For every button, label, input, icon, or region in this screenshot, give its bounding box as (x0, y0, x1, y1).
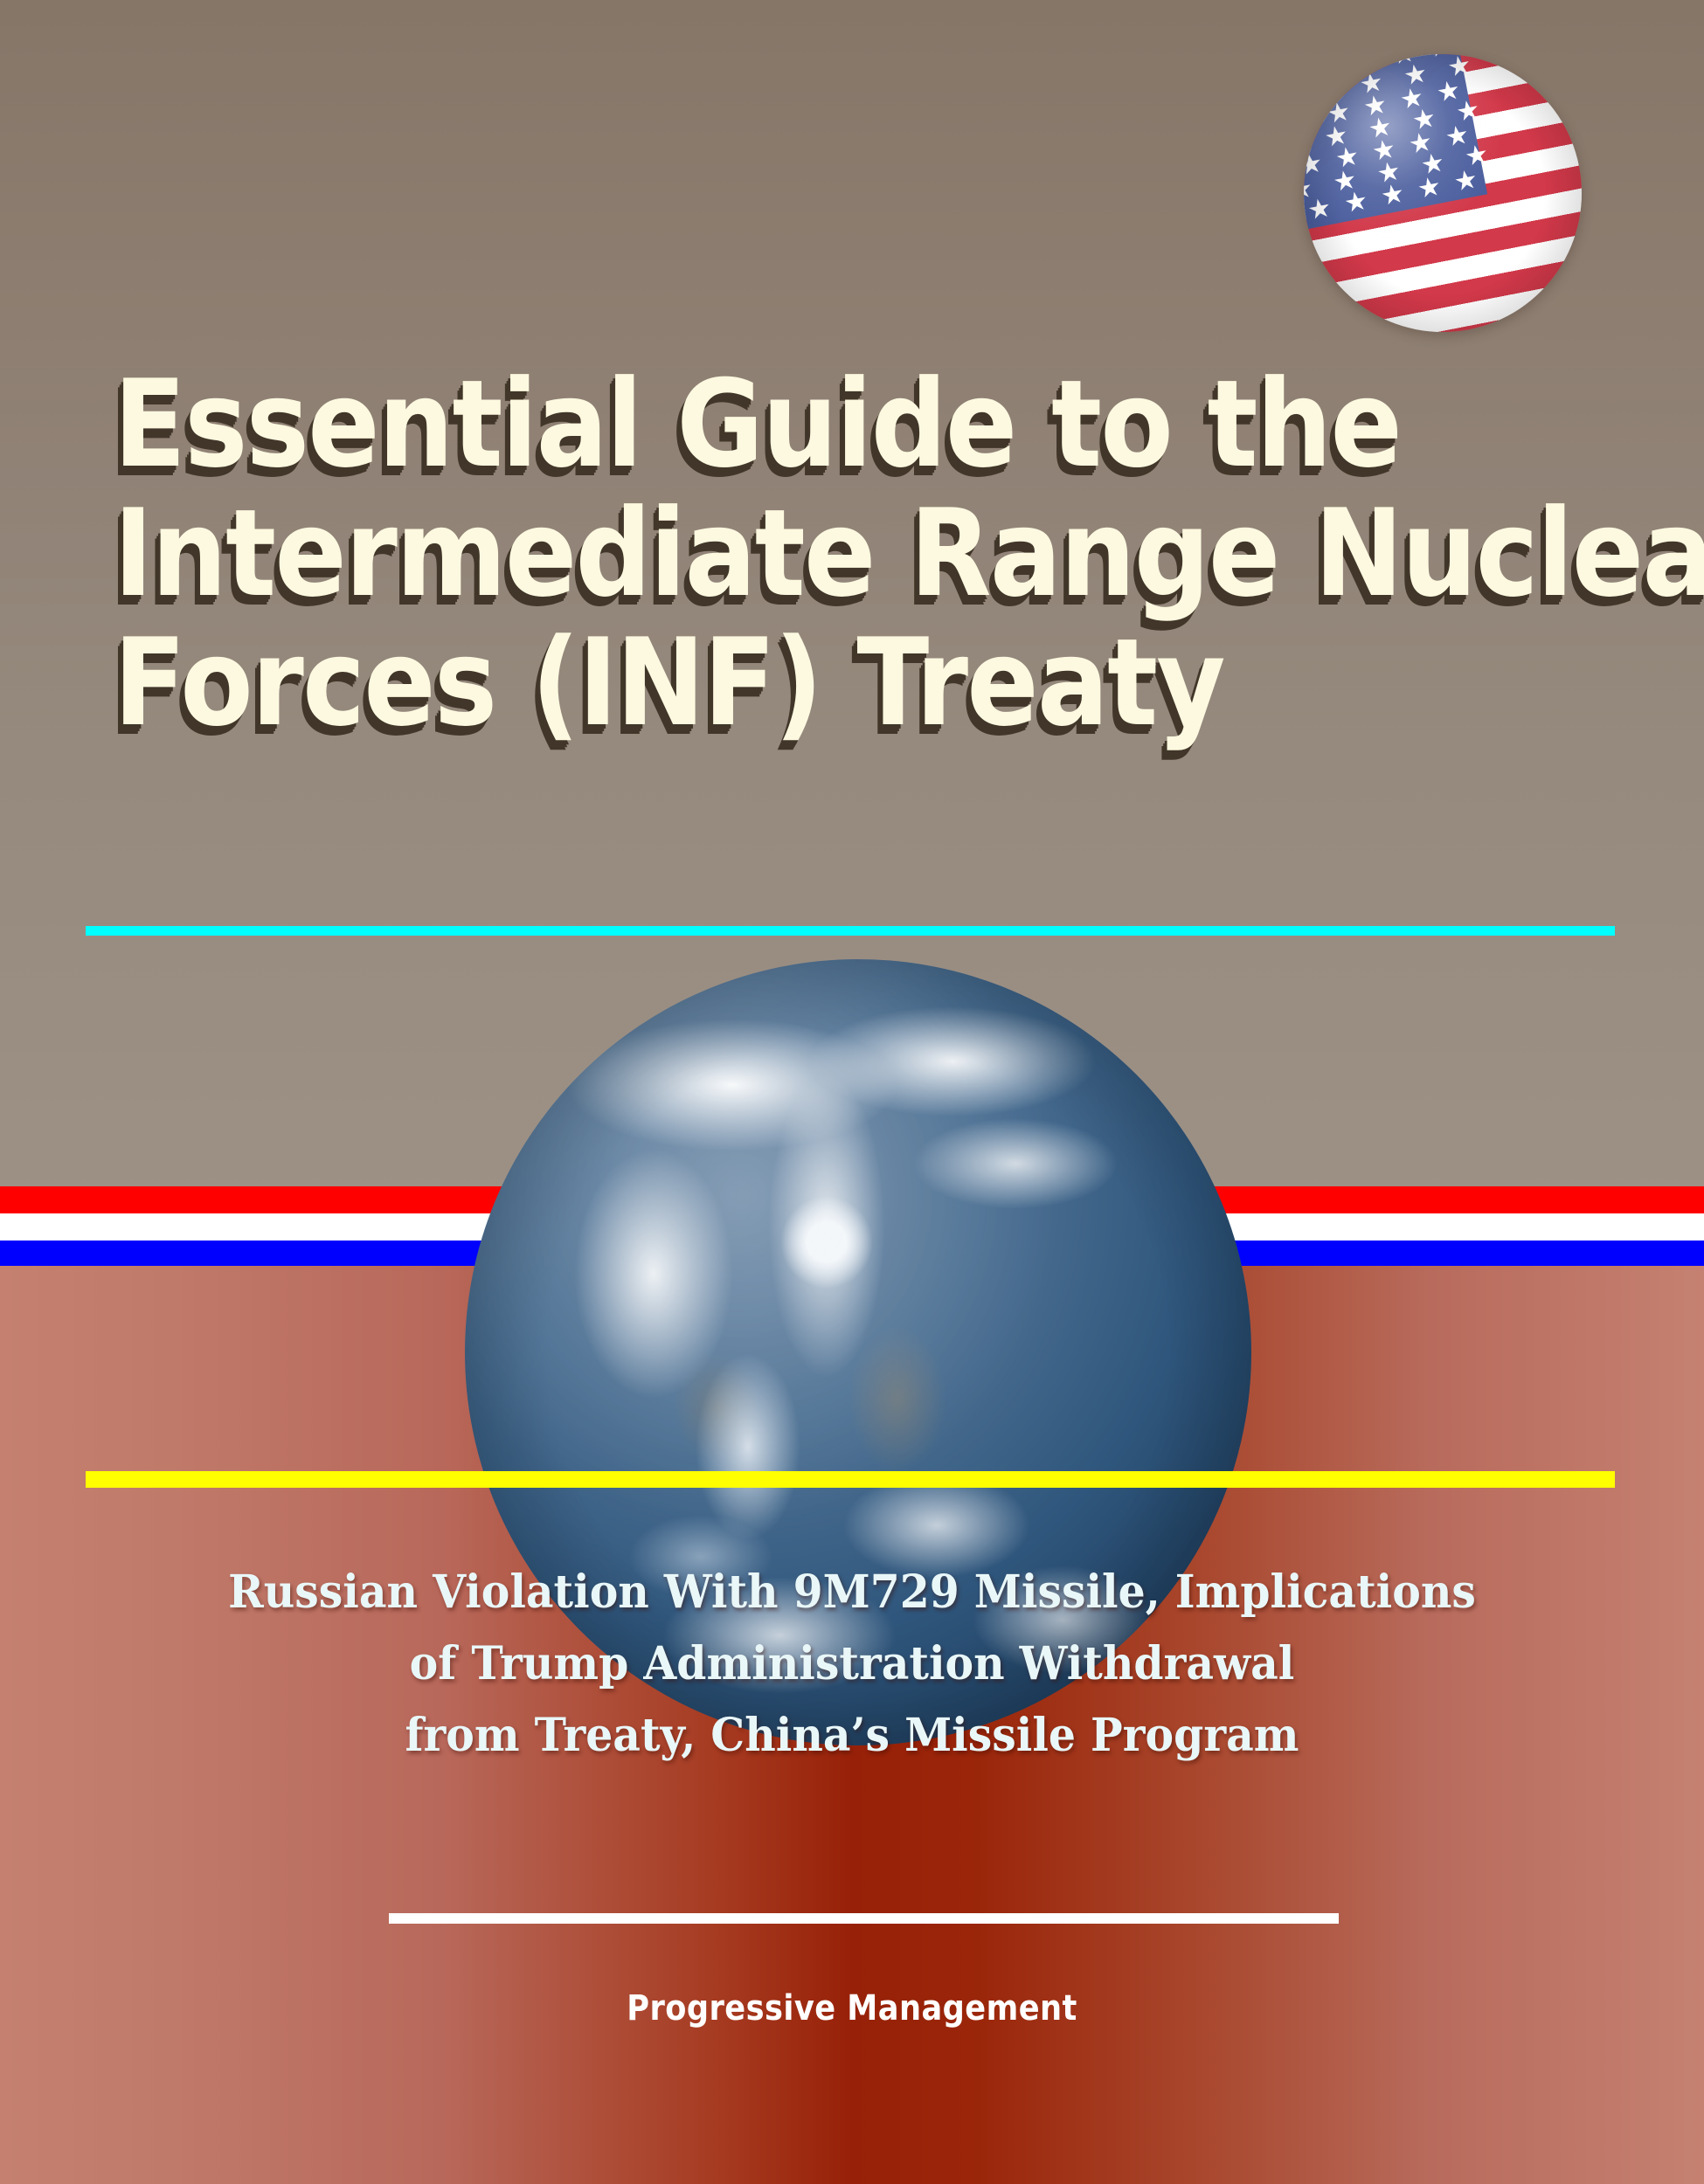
subtitle-line-3: from Treaty, China’s Missile Program (52, 1700, 1653, 1772)
cover-title: Essential Guide to the Intermediate Rang… (114, 376, 1652, 732)
subtitle-line-1: Russian Violation With 9M729 Missile, Im… (52, 1557, 1653, 1628)
us-flag-sphere-icon: ★★★★★★ ★★★★★ ★★★★★★ ★★★★★ ★★★★★★ ★★★★★ ★… (1304, 54, 1582, 332)
cyan-divider-rule (86, 926, 1615, 936)
cover-subtitle: Russian Violation With 9M729 Missile, Im… (0, 1557, 1704, 1772)
subtitle-line-2: of Trump Administration Withdrawal (52, 1628, 1653, 1700)
white-divider-rule (389, 1913, 1339, 1924)
book-cover: ★★★★★★ ★★★★★ ★★★★★★ ★★★★★ ★★★★★★ ★★★★★ ★… (0, 0, 1704, 2184)
title-line-2: Intermediate Range Nuclear (114, 505, 1467, 603)
orb-shading (1304, 54, 1582, 332)
publisher-name: Progressive Management (102, 1988, 1602, 2028)
title-line-3: Forces (INF) Treaty (114, 634, 1467, 732)
yellow-divider-rule (86, 1471, 1615, 1488)
title-line-1: Essential Guide to the (114, 376, 1467, 473)
